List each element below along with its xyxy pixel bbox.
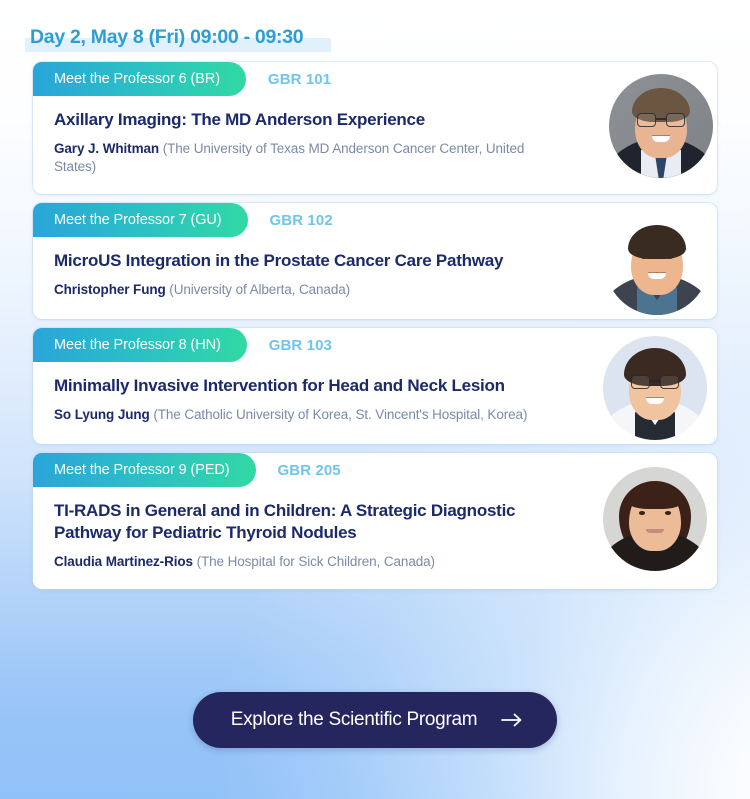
portrait-so-lyung-jung	[603, 336, 707, 440]
session-card-list: Meet the Professor 6 (BR) GBR 101 Axilla…	[33, 62, 717, 598]
cta-label: Explore the Scientific Program	[231, 709, 478, 731]
session-day-header: Day 2, May 8 (Fri) 09:00 - 09:30	[25, 21, 309, 53]
card-body: MicroUS Integration in the Prostate Canc…	[33, 237, 717, 319]
session-card[interactable]: Meet the Professor 9 (PED) GBR 205 TI-RA…	[33, 453, 717, 589]
speaker-affiliation: (The Hospital for Sick Children, Canada)	[197, 554, 435, 569]
card-body: Minimally Invasive Intervention for Head…	[33, 362, 717, 444]
session-badge: Meet the Professor 6 (BR)	[33, 62, 246, 96]
session-code: GBR 102	[270, 212, 333, 229]
speaker-portrait	[603, 336, 707, 440]
speaker-portrait	[609, 74, 713, 178]
speaker-portrait	[605, 211, 709, 315]
card-body: TI-RADS in General and in Children: A St…	[33, 487, 717, 589]
session-code: GBR 103	[269, 337, 332, 354]
cta-container: Explore the Scientific Program	[0, 692, 750, 748]
session-card[interactable]: Meet the Professor 6 (BR) GBR 101 Axilla…	[33, 62, 717, 194]
portrait-gary-j-whitman	[609, 74, 713, 178]
speaker-portrait	[603, 467, 707, 571]
session-code: GBR 101	[268, 71, 331, 88]
speaker-name: Gary J. Whitman	[54, 141, 159, 156]
session-card[interactable]: Meet the Professor 7 (GU) GBR 102 MicroU…	[33, 203, 717, 319]
session-badge: Meet the Professor 9 (PED)	[33, 453, 256, 487]
card-body: Axillary Imaging: The MD Anderson Experi…	[33, 96, 717, 194]
portrait-claudia-martinez-rios	[603, 467, 707, 571]
page-title: Day 2, May 8 (Fri) 09:00 - 09:30	[25, 26, 309, 49]
session-badge: Meet the Professor 7 (GU)	[33, 203, 248, 237]
explore-scientific-program-button[interactable]: Explore the Scientific Program	[193, 692, 558, 748]
speaker-name: So Lyung Jung	[54, 407, 150, 422]
arrow-right-icon	[501, 709, 523, 731]
portrait-christopher-fung	[605, 211, 709, 315]
speaker-name: Christopher Fung	[54, 282, 166, 297]
program-highlight-page: Day 2, May 8 (Fri) 09:00 - 09:30 Meet th…	[0, 0, 750, 799]
session-badge: Meet the Professor 8 (HN)	[33, 328, 247, 362]
session-card[interactable]: Meet the Professor 8 (HN) GBR 103 Minima…	[33, 328, 717, 444]
speaker-name: Claudia Martinez-Rios	[54, 554, 193, 569]
speaker-affiliation: (University of Alberta, Canada)	[169, 282, 350, 297]
speaker-affiliation: (The Catholic University of Korea, St. V…	[153, 407, 527, 422]
session-code: GBR 205	[278, 462, 341, 479]
